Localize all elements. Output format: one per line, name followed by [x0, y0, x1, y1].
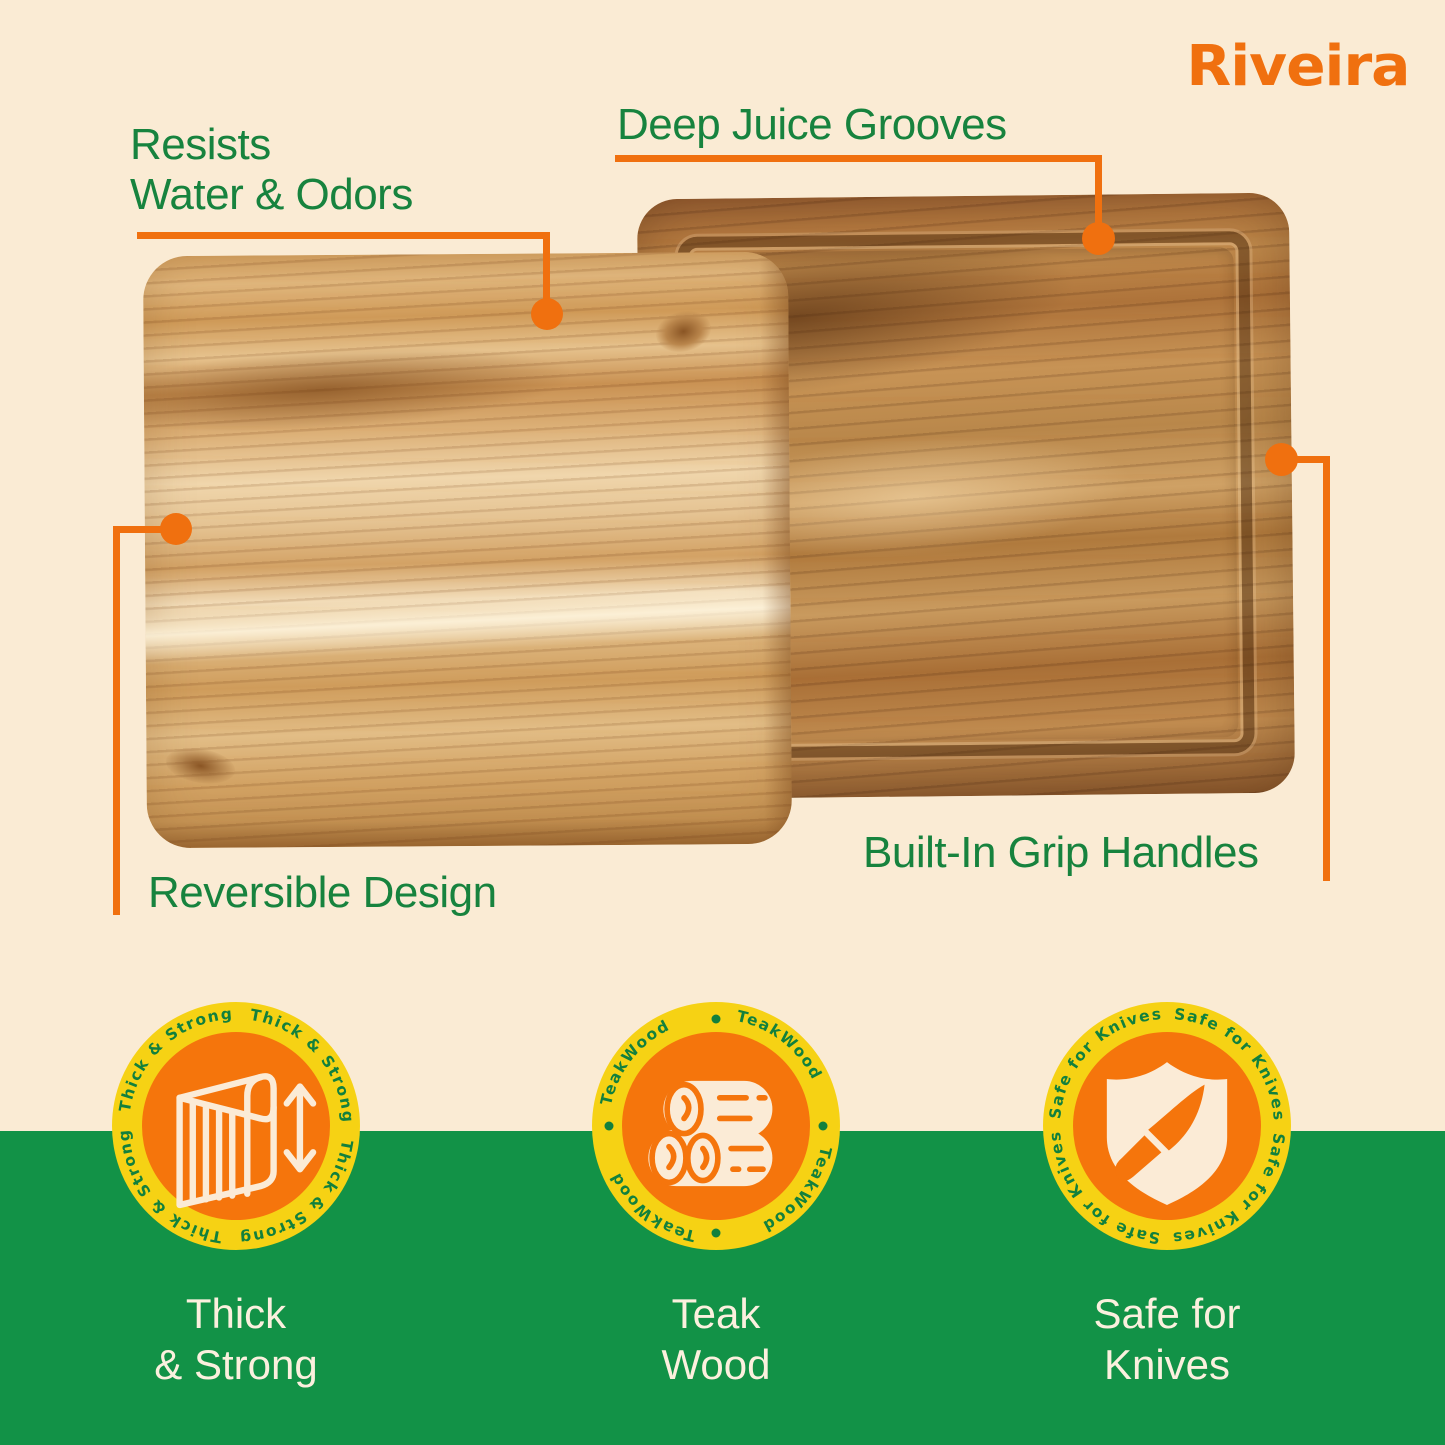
badge-safe-for-knives: Safe for Knives Safe for Knives Safe for… [1043, 1002, 1291, 1250]
badge-caption-teak-wood: Teak Wood [551, 1288, 881, 1390]
badge-caption-safe-for-knives: Safe for Knives [1002, 1288, 1332, 1390]
front-cutting-board [143, 252, 792, 848]
callout-resists-water-odors: Resists Water & Odors [130, 120, 413, 220]
badge-caption-thick-strong: Thick & Strong [71, 1288, 401, 1390]
infographic-stage: Riveira Resists Water & Odors Deep Juice… [0, 0, 1445, 1445]
callout-built-in-grip-handles: Built-In Grip Handles [863, 828, 1258, 878]
front-board-bottom-edge [147, 818, 792, 849]
badge-thick-strong: Thick & Strong Thick & Strong Thick & St… [112, 1002, 360, 1250]
wood-logs-icon [622, 1032, 810, 1220]
connector-handles-vertical [1323, 456, 1330, 881]
connector-reversible-vertical [113, 526, 120, 915]
connector-reversible-horizontal [113, 526, 173, 533]
front-board-right-edge [760, 252, 792, 844]
board-thickness-icon [142, 1032, 330, 1220]
callout-deep-juice-grooves: Deep Juice Grooves [617, 100, 1007, 150]
shield-knife-icon [1073, 1032, 1261, 1220]
connector-water-horizontal [137, 232, 549, 239]
brand-logo: Riveira [1186, 34, 1409, 99]
connector-grooves-horizontal [615, 155, 1102, 162]
callout-reversible-design: Reversible Design [148, 868, 497, 918]
badge-teak-wood: TeakWood TeakWood TeakWood TeakWood [592, 1002, 840, 1250]
connector-grooves-dot [1082, 222, 1115, 255]
connector-water-dot [531, 298, 563, 330]
